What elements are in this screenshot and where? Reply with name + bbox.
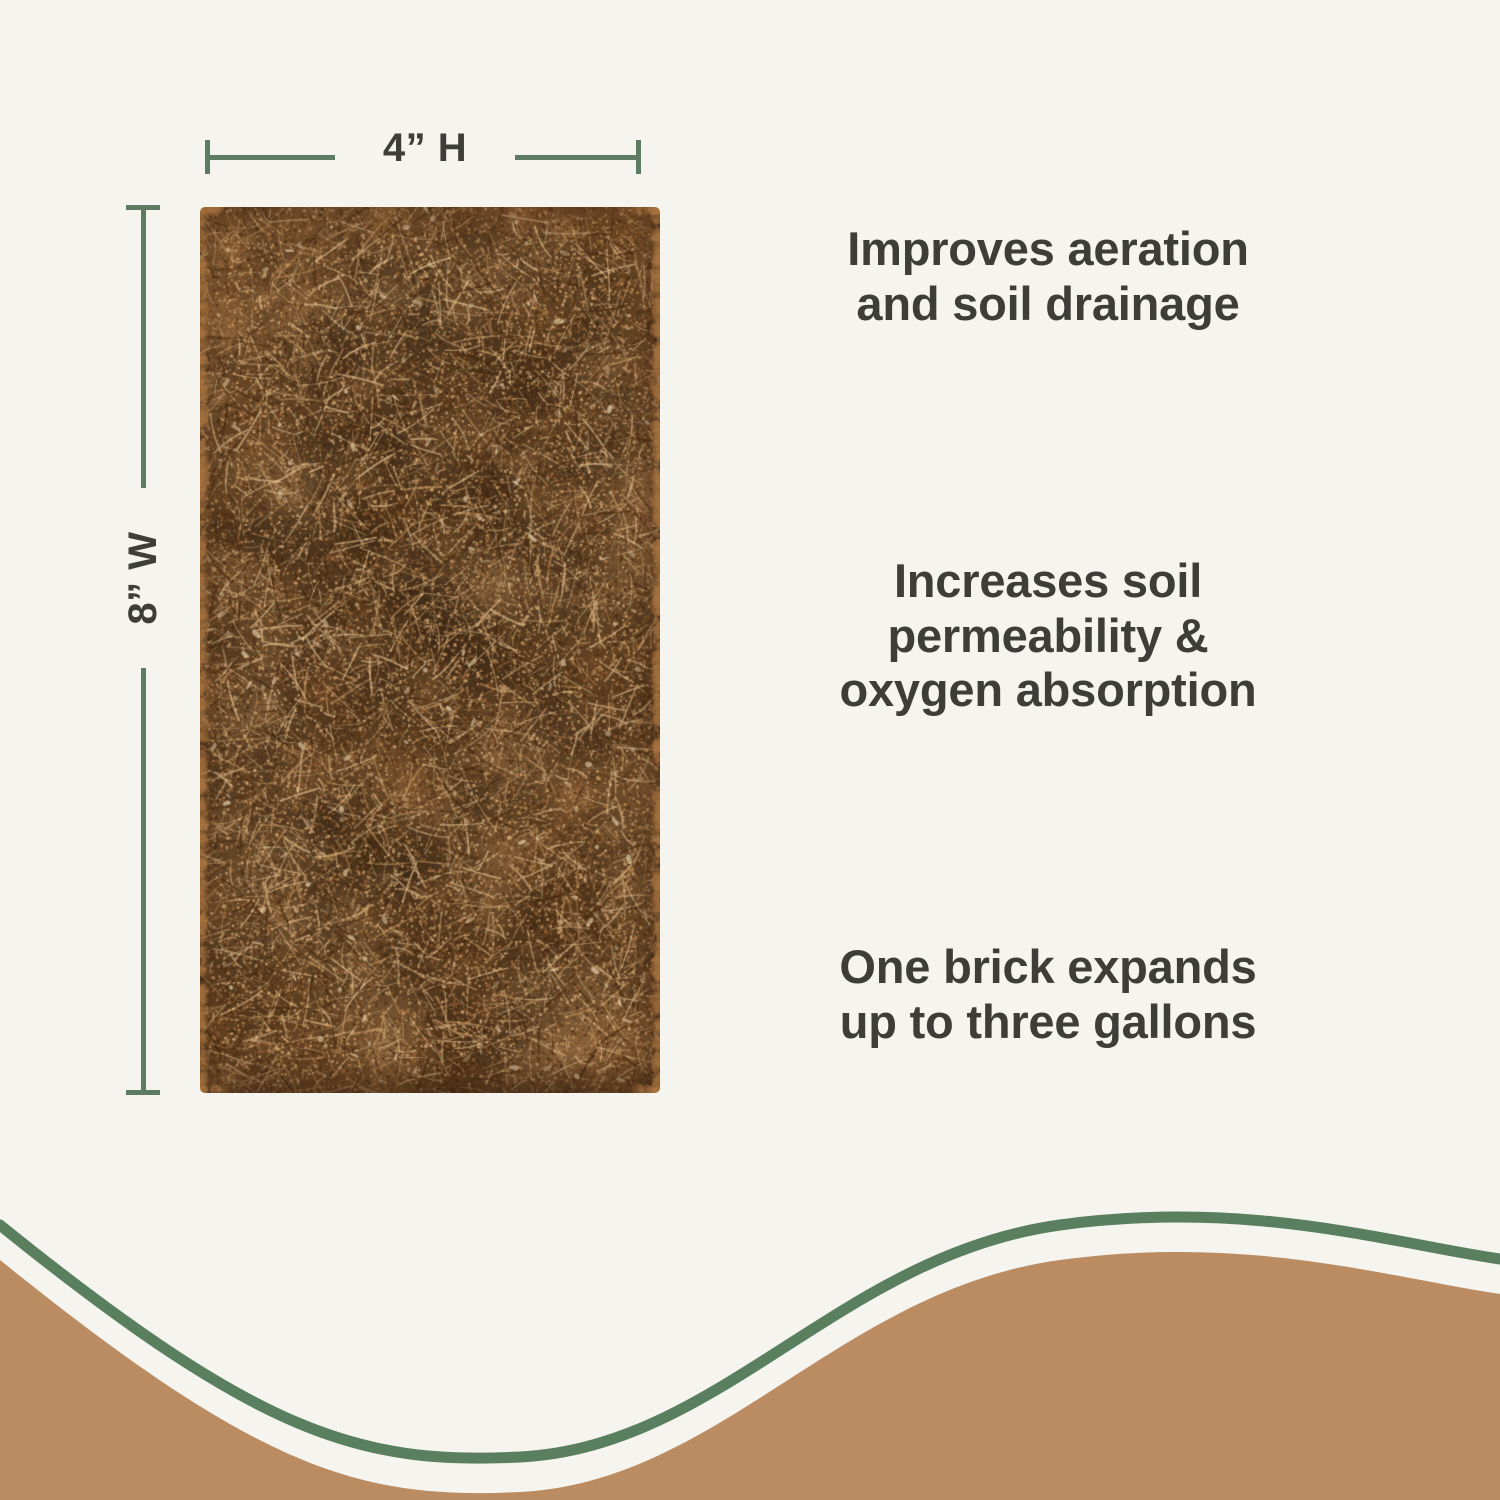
benefit-aeration-drainage: Improves aeration and soil drainage — [748, 222, 1348, 332]
benefit-line: Improves aeration — [748, 222, 1348, 277]
benefit-line: permeability & — [748, 609, 1348, 664]
benefit-line: up to three gallons — [748, 995, 1348, 1050]
infographic-canvas: 4” H 8” W Improves aeration and soil dra… — [0, 0, 1500, 1500]
benefit-expansion-volume: One brick expands up to three gallons — [748, 940, 1348, 1050]
dimension-label-width: 4” H — [335, 126, 515, 171]
benefits-list: Improves aeration and soil drainage Incr… — [748, 208, 1348, 1088]
ruler-endcap-top — [126, 205, 160, 210]
dimension-label-height: 8” W — [115, 488, 171, 668]
benefit-permeability-oxygen: Increases soil permeability & oxygen abs… — [748, 554, 1348, 719]
ruler-endcap-left — [205, 140, 210, 174]
ruler-endcap-right — [636, 140, 641, 174]
dimension-ruler-horizontal: 4” H — [205, 140, 641, 174]
benefit-line: oxygen absorption — [748, 663, 1348, 718]
benefit-line: and soil drainage — [748, 277, 1348, 332]
benefit-line: Increases soil — [748, 554, 1348, 609]
wave-fill-shape — [0, 1252, 1500, 1500]
coir-texture — [200, 207, 660, 1093]
decorative-wave-graphic — [0, 1170, 1500, 1500]
dimension-ruler-vertical: 8” W — [126, 205, 160, 1095]
coco-coir-brick-image — [200, 207, 660, 1093]
benefit-line: One brick expands — [748, 940, 1348, 995]
ruler-endcap-bottom — [126, 1090, 160, 1095]
